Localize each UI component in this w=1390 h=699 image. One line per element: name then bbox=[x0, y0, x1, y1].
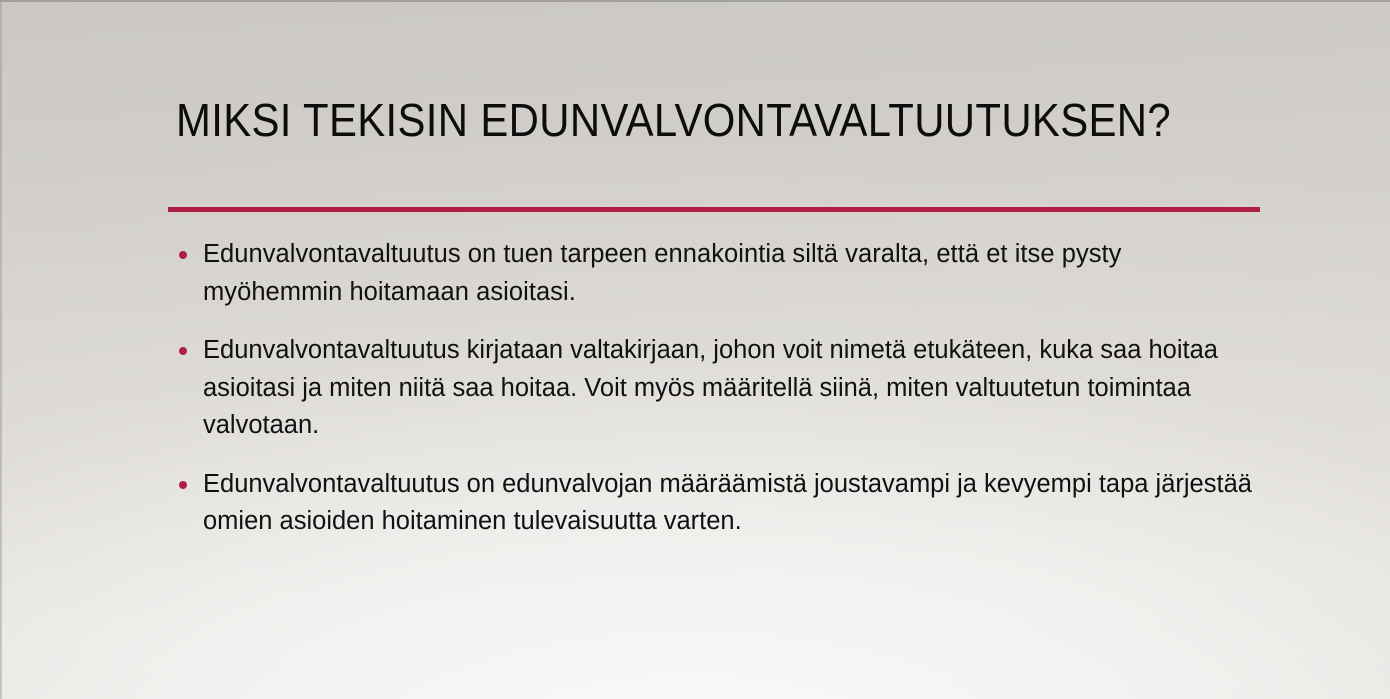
list-item-text: Edunvalvontavaltuutus on tuen tarpeen en… bbox=[203, 236, 1266, 311]
list-item-text: Edunvalvontavaltuutus kirjataan valtakir… bbox=[203, 332, 1266, 445]
slide-title: MIKSI TEKISIN EDUNVALVONTAVALTUUTUKSEN? bbox=[176, 92, 1186, 148]
list-item-text: Edunvalvontavaltuutus on edunvalvojan mä… bbox=[203, 466, 1266, 541]
presentation-slide: MIKSI TEKISIN EDUNVALVONTAVALTUUTUKSEN? … bbox=[0, 0, 1390, 699]
slide-top-border bbox=[0, 0, 1390, 2]
list-item: Edunvalvontavaltuutus kirjataan valtakir… bbox=[176, 332, 1266, 445]
bullet-dot-icon bbox=[179, 251, 187, 259]
slide-left-border bbox=[0, 0, 2, 699]
title-divider-rule bbox=[168, 207, 1260, 212]
bullet-dot-icon bbox=[179, 481, 187, 489]
slide-body: Edunvalvontavaltuutus on tuen tarpeen en… bbox=[176, 236, 1266, 541]
list-item: Edunvalvontavaltuutus on edunvalvojan mä… bbox=[176, 466, 1266, 541]
bullet-dot-icon bbox=[179, 347, 187, 355]
list-item: Edunvalvontavaltuutus on tuen tarpeen en… bbox=[176, 236, 1266, 311]
